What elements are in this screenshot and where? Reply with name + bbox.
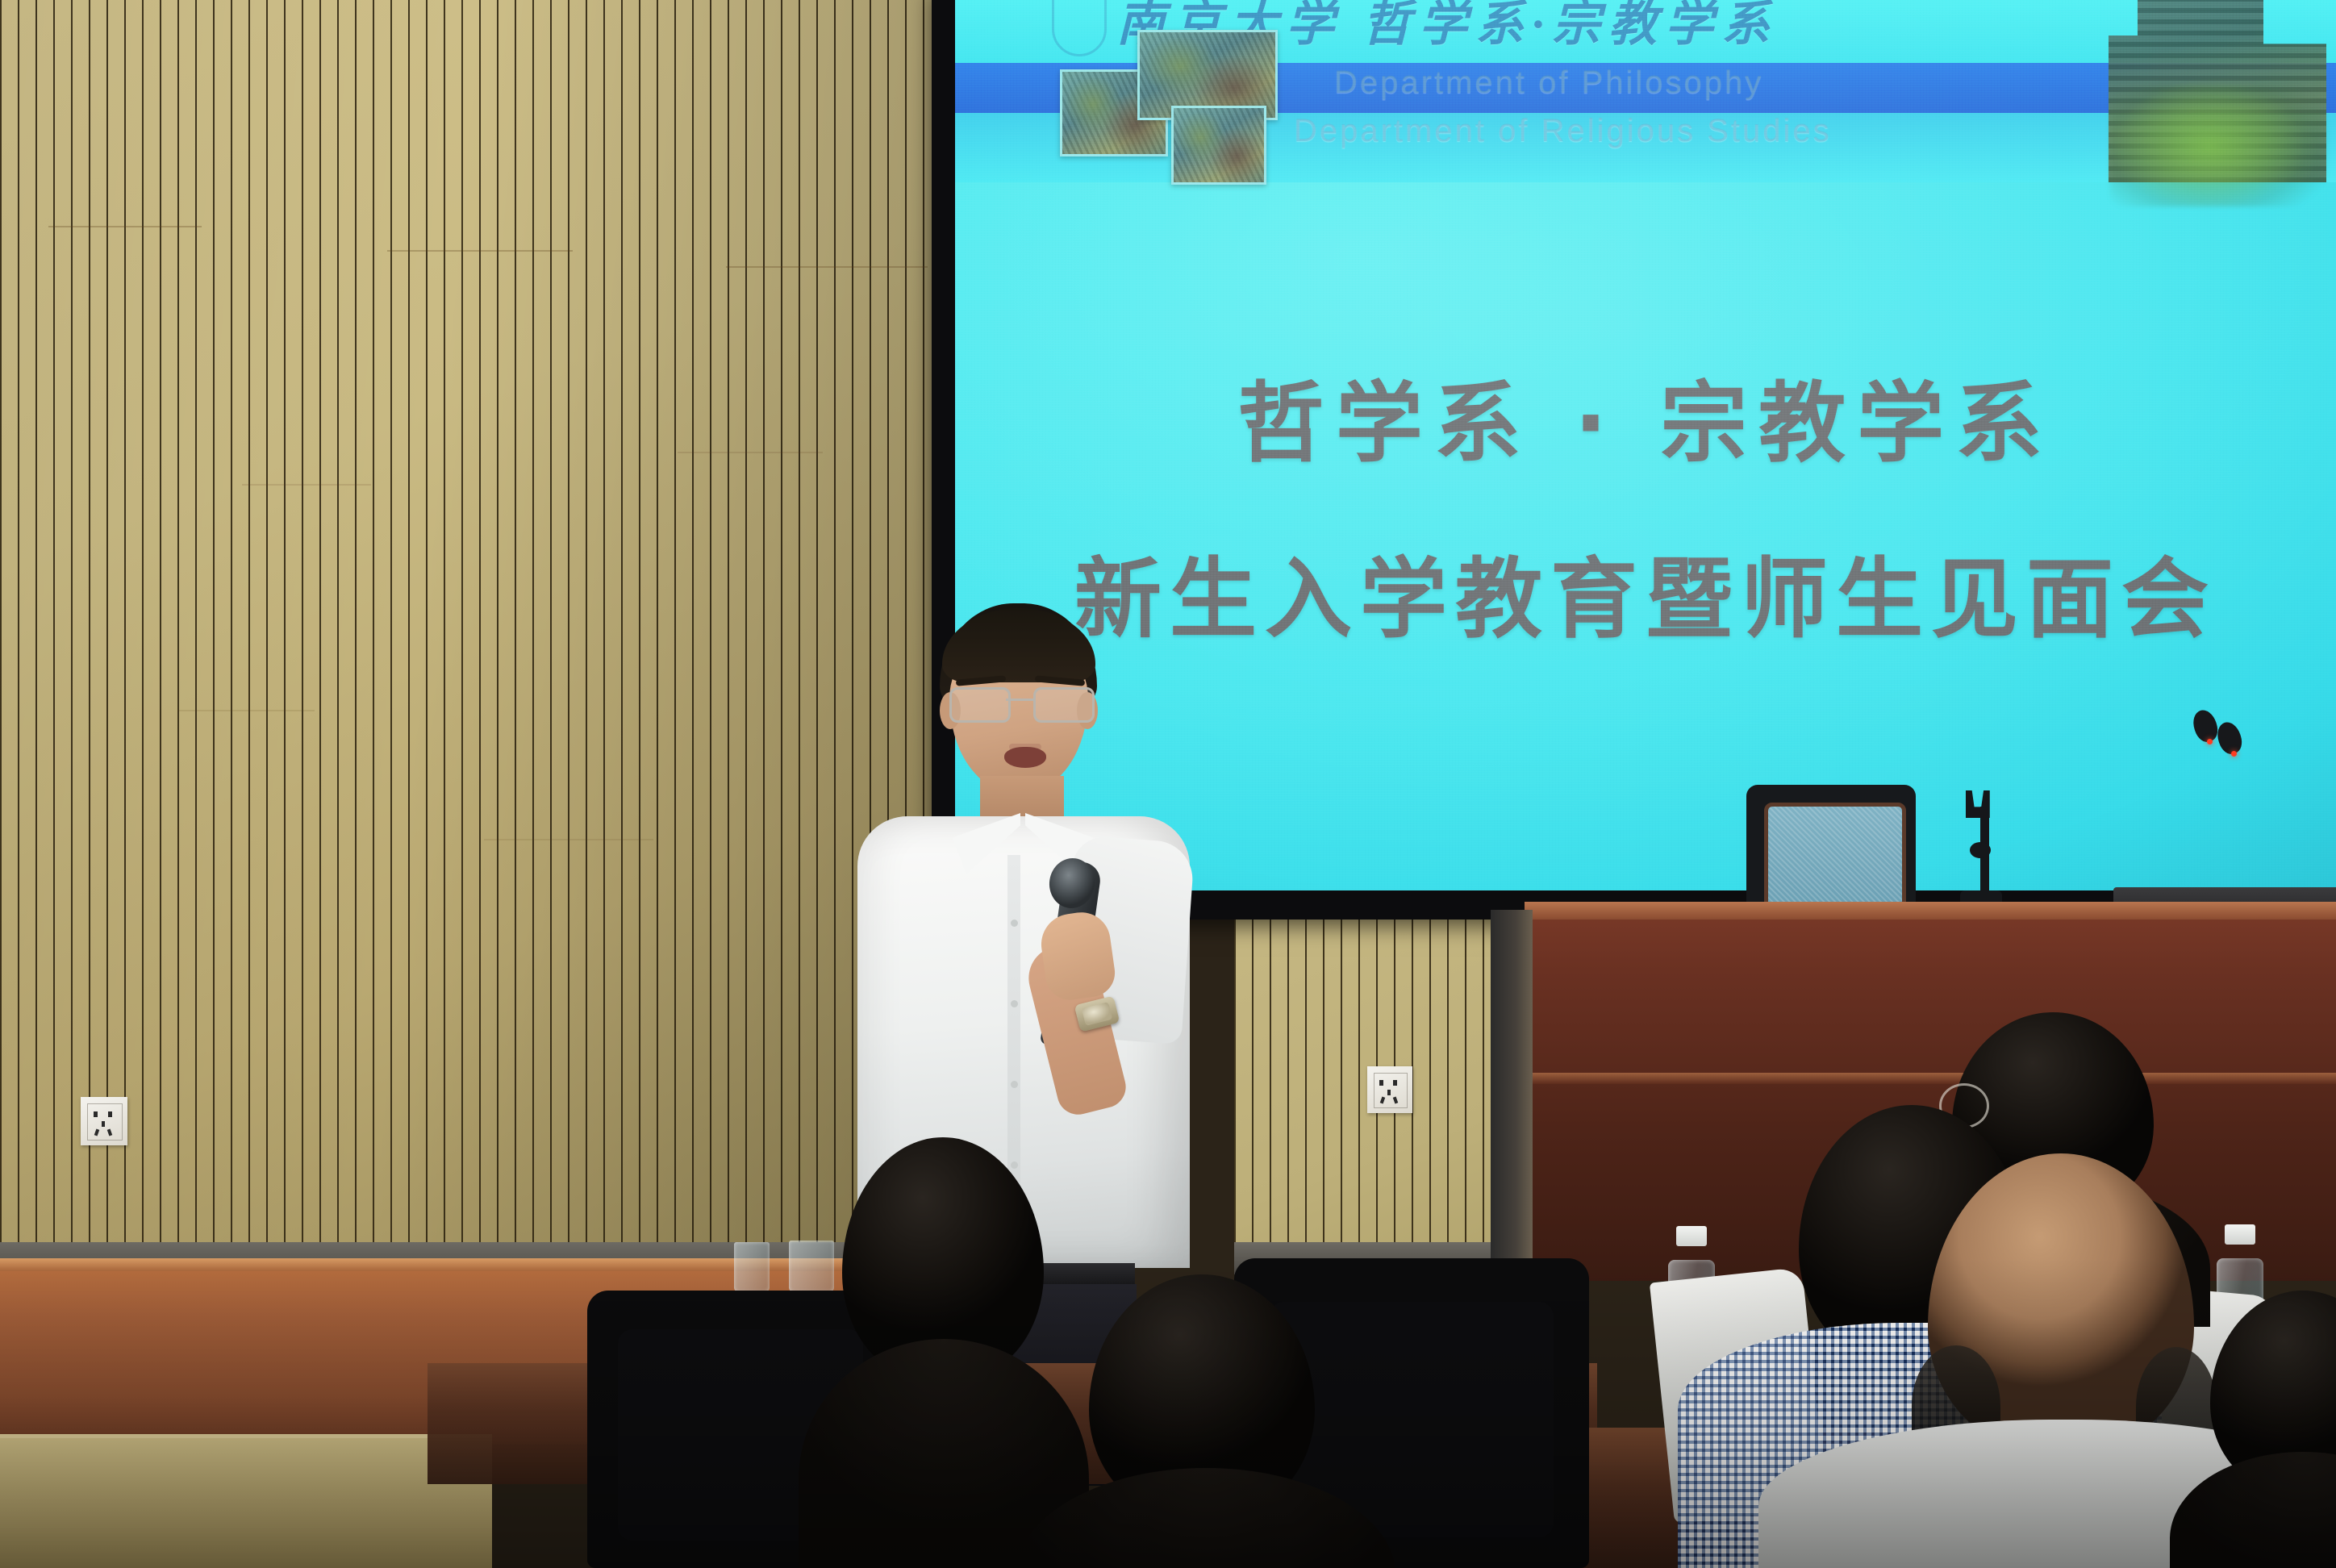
podium-side-panel [1491, 910, 1533, 1273]
speaker-mouth [1004, 747, 1046, 768]
wall-outlet-left[interactable] [81, 1097, 127, 1145]
wall-seam [387, 250, 573, 252]
wall-seam [484, 839, 653, 840]
eyeglasses-icon [945, 687, 1095, 719]
wood-slat-wall-left [0, 0, 944, 1258]
eyeglass-bridge [1006, 699, 1033, 701]
speaker-hair-front [942, 608, 1095, 682]
eyeglass-lens-right [1033, 687, 1095, 723]
wristwatch-face [1082, 1002, 1112, 1026]
wall-seam [177, 710, 315, 711]
podium-chair-mesh-back [1764, 803, 1906, 914]
photograph-scene: 南京大学 哲学系·宗教学系 Department of Philosophy D… [0, 0, 2336, 1568]
audience-shoulders [1016, 1468, 1395, 1568]
wall-shading [0, 0, 944, 1258]
shirt-button [1011, 1000, 1018, 1007]
microphone-head-icon [2214, 719, 2246, 757]
eyeglass-lens-left [949, 687, 1011, 723]
audience-member-front-center [1032, 1274, 1371, 1568]
audience-shoulders [2170, 1452, 2336, 1568]
audience-member-far-right [2194, 1291, 2336, 1568]
wall-seam [242, 484, 371, 486]
stage-skirt-panel [0, 1434, 492, 1568]
microphone-led-indicator [2231, 751, 2237, 757]
wall-outlet-right[interactable] [1367, 1066, 1412, 1113]
wall-seam [678, 452, 823, 453]
shirt-button [1011, 1081, 1018, 1088]
podium-desk-edge [1525, 1073, 2336, 1084]
wall-seam [48, 226, 202, 227]
gooseneck-microphone-2 [2210, 722, 2315, 904]
drinking-glass-1 [734, 1242, 770, 1292]
shirt-button [1011, 920, 1018, 927]
microphone-stand-knob [1970, 842, 1991, 858]
wall-seam [726, 266, 928, 268]
podium-desk-top [1525, 902, 2336, 920]
bottle-cap [1676, 1226, 1706, 1246]
